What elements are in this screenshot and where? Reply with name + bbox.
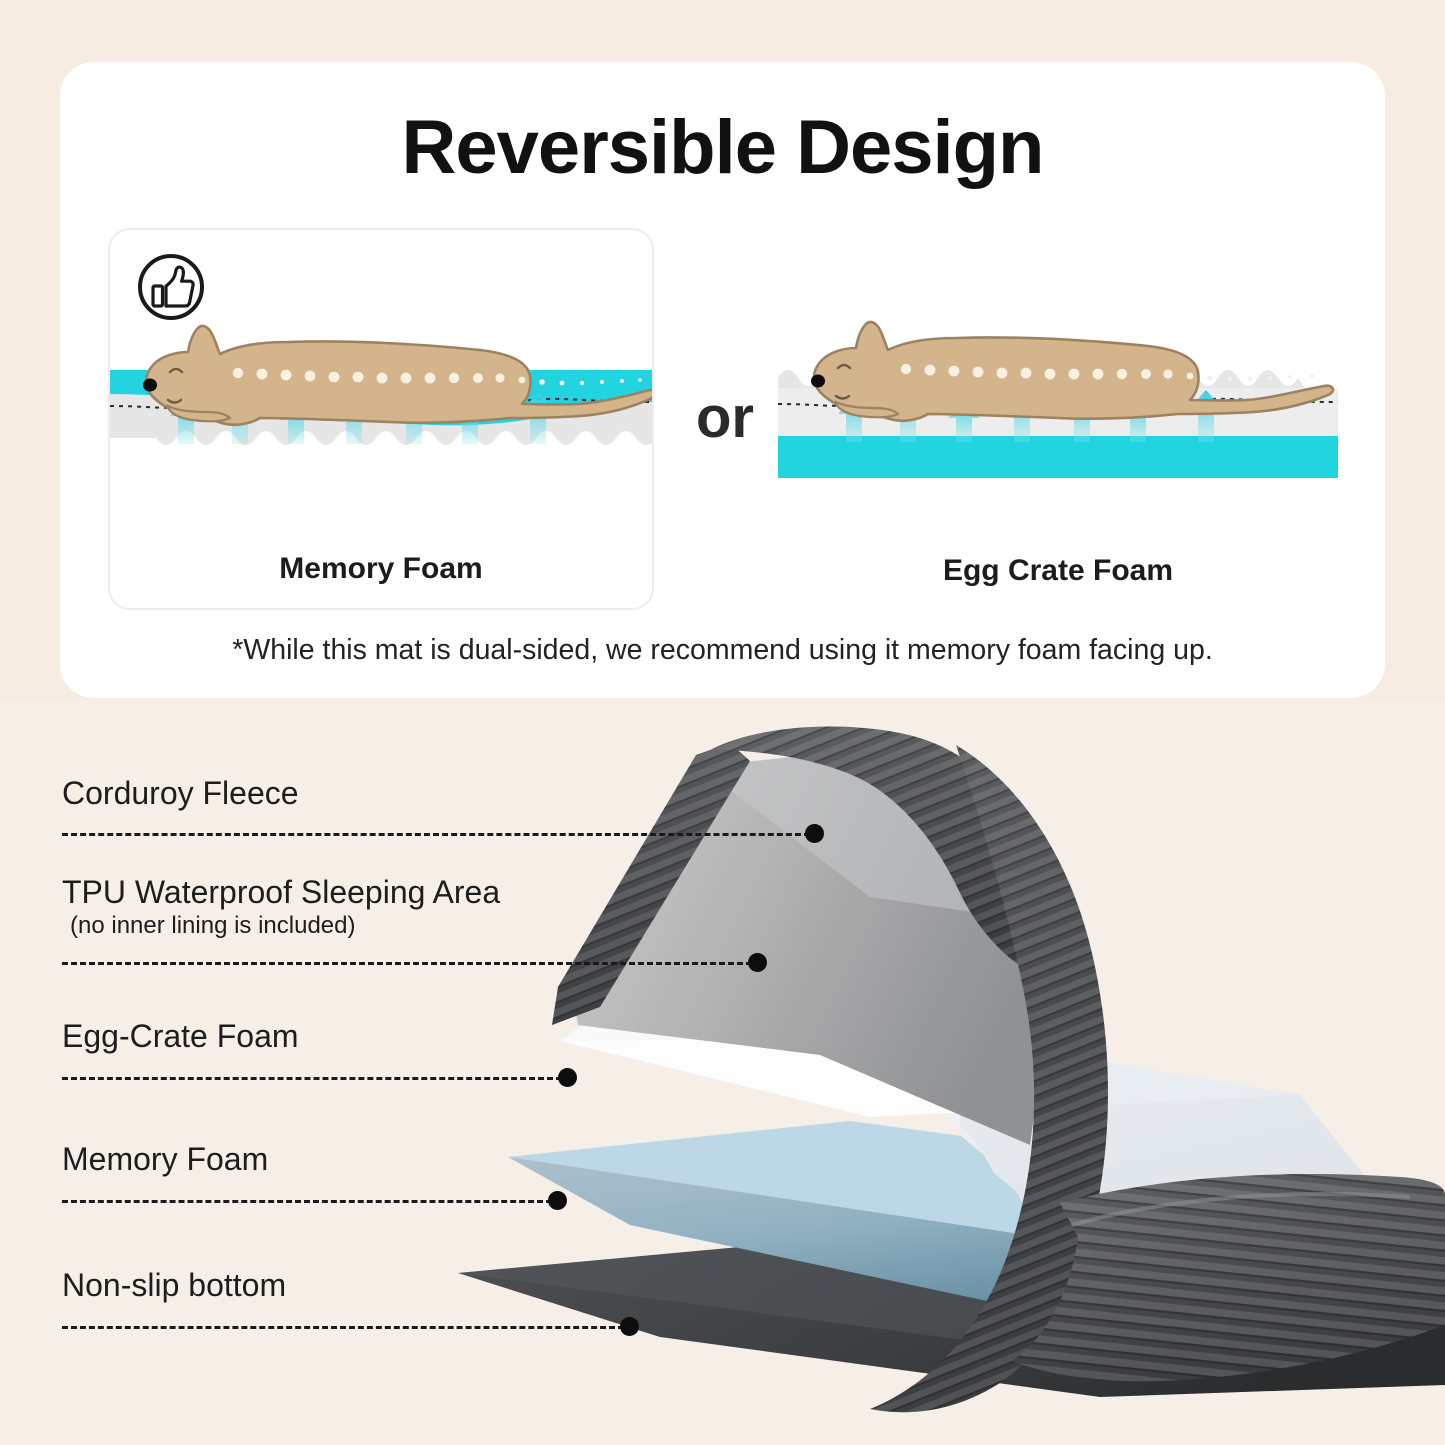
layered-mat-product-illustration [400, 725, 1445, 1425]
spec-label-non-slip-bottom: Non-slip bottom [62, 1267, 286, 1305]
page-title: Reversible Design [60, 104, 1385, 191]
egg-crate-foam-illustration [778, 228, 1338, 610]
memory-foam-panel: Memory Foam [108, 228, 654, 610]
leader-dot-memory-foam [548, 1191, 567, 1210]
leader-line-tpu-waterproof [62, 962, 752, 965]
spec-label-memory-foam: Memory Foam [62, 1141, 268, 1179]
thumbs-up-icon [136, 252, 206, 322]
spec-sublabel-tpu-waterproof: (no inner lining is included) [62, 912, 500, 940]
spec-label-tpu-waterproof: TPU Waterproof Sleeping Area [62, 874, 500, 912]
egg-crate-foam-caption: Egg Crate Foam [778, 554, 1338, 588]
leader-dot-egg-crate-foam [558, 1068, 577, 1087]
leader-dot-non-slip-bottom [620, 1317, 639, 1336]
leader-line-corduroy-fleece [62, 833, 810, 836]
spec-row-corduroy-fleece: Corduroy Fleece [62, 775, 299, 813]
spec-label-egg-crate-foam: Egg-Crate Foam [62, 1018, 299, 1056]
leader-line-memory-foam [62, 1200, 552, 1203]
egg-crate-foam-panel: Egg Crate Foam [778, 228, 1338, 610]
spec-row-tpu-waterproof: TPU Waterproof Sleeping Area (no inner l… [62, 874, 500, 940]
reversible-design-card: Reversible Design [60, 62, 1385, 698]
leader-dot-tpu-waterproof [748, 953, 767, 972]
hero-footnote: *While this mat is dual-sided, we recomm… [60, 634, 1385, 667]
leader-dot-corduroy-fleece [805, 824, 824, 843]
leader-line-egg-crate-foam [62, 1077, 562, 1080]
spec-row-non-slip-bottom: Non-slip bottom [62, 1267, 286, 1305]
spec-row-egg-crate-foam: Egg-Crate Foam [62, 1018, 299, 1056]
spec-row-memory-foam: Memory Foam [62, 1141, 268, 1179]
or-connector-label: or [672, 384, 778, 451]
memory-foam-caption: Memory Foam [110, 552, 652, 586]
spec-label-corduroy-fleece: Corduroy Fleece [62, 775, 299, 813]
leader-line-non-slip-bottom [62, 1326, 624, 1329]
